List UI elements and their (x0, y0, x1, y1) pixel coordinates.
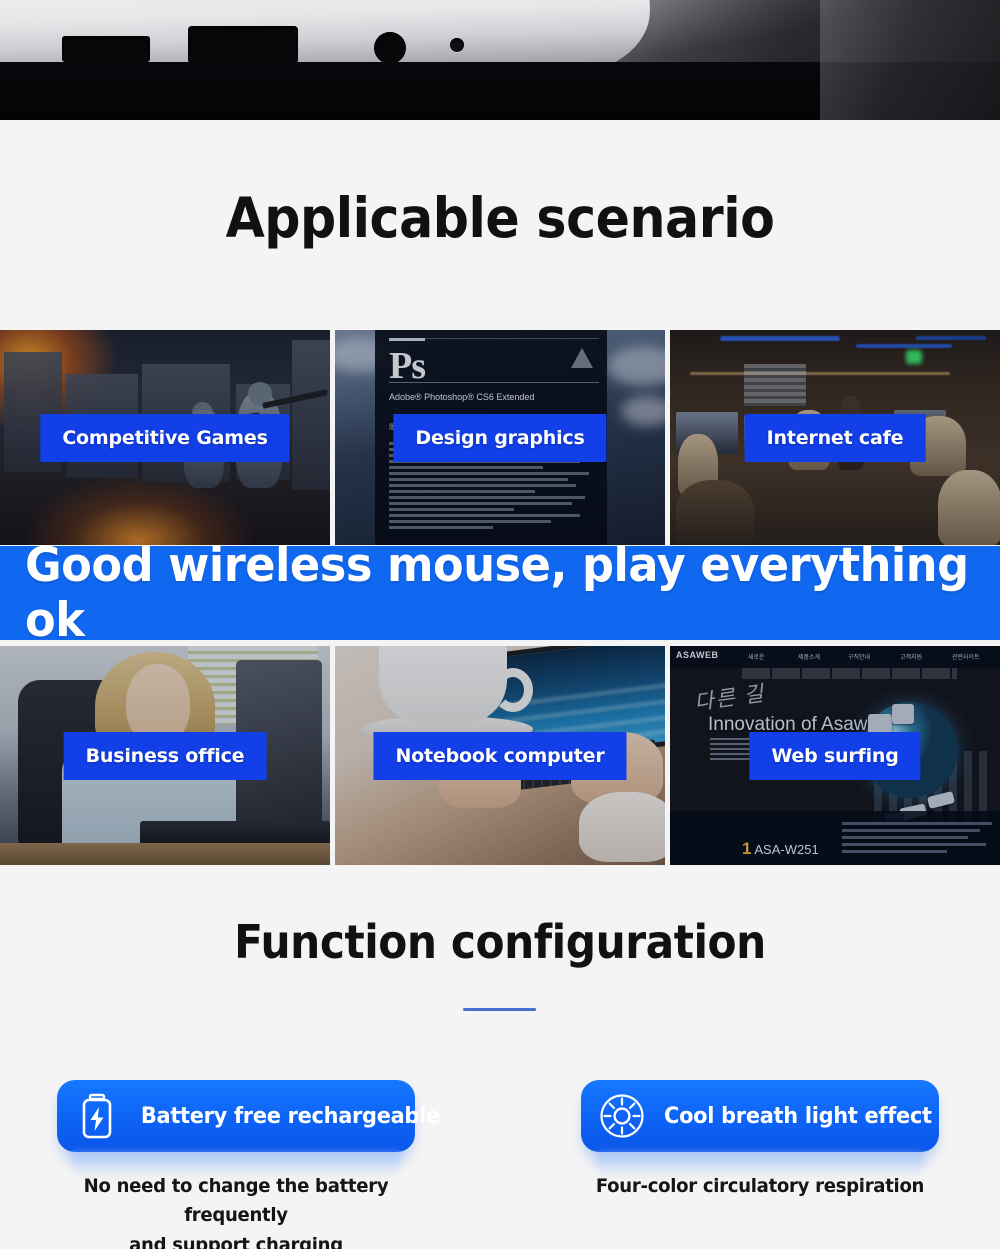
usb-port-icon (62, 36, 150, 62)
desk-sheen (820, 0, 1000, 120)
scenario-tile-business-office[interactable]: Business office (0, 646, 330, 865)
feature-card-battery: Battery free rechargeable No need to cha… (57, 1080, 415, 1249)
tile-label: Web surfing (749, 732, 920, 780)
audio-jack-icon (374, 32, 406, 64)
feature-caption: Four-color circulatory respiration (590, 1172, 930, 1201)
tile-label: Business office (64, 732, 267, 780)
feature-caption: No need to change the battery frequently… (66, 1172, 406, 1249)
product-detail-page: Applicable scenario Competitive Games (0, 0, 1000, 1249)
promo-banner: Good wireless mouse, play everything ok (0, 546, 1000, 640)
feature-pill[interactable]: Cool breath light effect (581, 1080, 939, 1152)
title-underline-accent (463, 1008, 536, 1011)
indicator-led-icon (450, 38, 464, 52)
feature-pill[interactable]: Battery free rechargeable (57, 1080, 415, 1152)
tile-label: Notebook computer (373, 732, 626, 780)
scenario-tile-competitive-games[interactable]: Competitive Games (0, 330, 330, 545)
scenario-tile-web-surfing[interactable]: ASAWEB 새로운 제품소게 구직안내 고객지원 관련사이트 다른 길 Inn… (670, 646, 1000, 865)
feature-label: Cool breath light effect (664, 1104, 932, 1129)
tile-label: Design graphics (393, 414, 606, 462)
battery-charge-icon (75, 1093, 119, 1139)
breath-light-icon (599, 1093, 643, 1139)
tile-label: Competitive Games (40, 414, 289, 462)
promo-banner-text: Good wireless mouse, play everything ok (25, 538, 975, 648)
feature-card-breath-light: Cool breath light effect Four-color circ… (581, 1080, 939, 1201)
scenario-tile-design-graphics[interactable]: Ps Adobe® Photoshop® CS6 Extended 版本 13.… (335, 330, 665, 545)
scenario-grid-row-top: Competitive Games Ps Adobe® Photoshop® C… (0, 330, 1000, 545)
scenario-tile-internet-cafe[interactable]: Internet cafe (670, 330, 1000, 545)
tile-label: Internet cafe (745, 414, 926, 462)
hero-laptop-photo (0, 0, 1000, 120)
usb-port-icon (188, 26, 298, 64)
scenario-grid-row-bottom: Business office Notebook compute (0, 646, 1000, 865)
feature-label: Battery free rechargeable (141, 1104, 440, 1129)
page-title-applicable-scenario: Applicable scenario (40, 186, 960, 250)
section-title-function-configuration: Function configuration (40, 915, 960, 969)
scenario-tile-notebook-computer[interactable]: Notebook computer (335, 646, 665, 865)
